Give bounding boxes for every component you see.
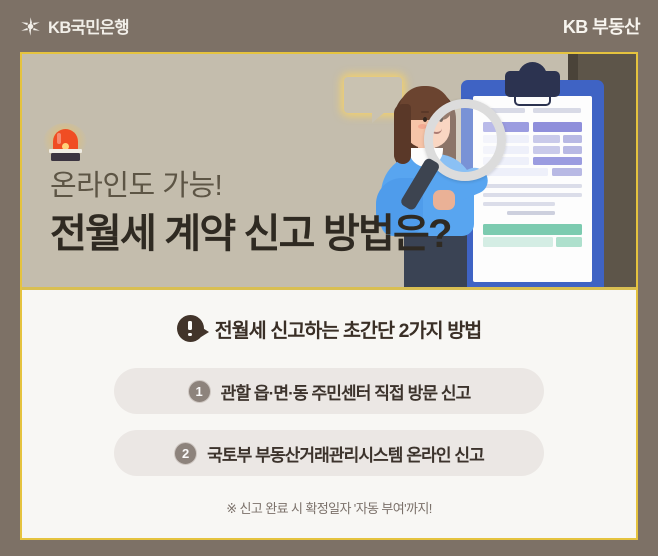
top-brand-bar: KB국민은행 KB 부동산 bbox=[0, 0, 658, 52]
alert-title-row: 전월세 신고하는 초간단 2가지 방법 bbox=[22, 314, 636, 343]
kb-real-estate-label[interactable]: KB 부동산 bbox=[563, 13, 640, 39]
hero-subheadline: 온라인도 가능! bbox=[50, 172, 451, 201]
exclamation-badge-icon bbox=[177, 315, 204, 342]
exclamation-badge-tail bbox=[201, 327, 209, 337]
siren-alert-icon bbox=[42, 123, 88, 163]
kb-star-icon bbox=[20, 16, 41, 37]
clipboard-clip bbox=[505, 71, 560, 97]
magnifying-glass-icon bbox=[424, 99, 506, 181]
method-label-2: 국토부 부동산거래관리시스템 온라인 신고 bbox=[207, 441, 484, 466]
character-hand bbox=[433, 190, 455, 210]
infographic-card: 온라인도 가능! 전월세 계약 신고 방법은? 전월세 신고하는 초간단 2가지… bbox=[20, 52, 638, 540]
kb-kookmin-bank-logo[interactable]: KB국민은행 bbox=[20, 14, 129, 38]
method-number-2: 2 bbox=[174, 442, 197, 465]
clipboard-clip-hook bbox=[514, 95, 551, 106]
alert-title: 전월세 신고하는 초간단 2가지 방법 bbox=[215, 314, 482, 343]
content-section: 전월세 신고하는 초간단 2가지 방법 1 관할 읍·면·동 주민센터 직접 방… bbox=[22, 290, 636, 539]
kb-bank-label: KB국민은행 bbox=[48, 14, 129, 38]
method-item-1[interactable]: 1 관할 읍·면·동 주민센터 직접 방문 신고 bbox=[114, 368, 544, 414]
footnote: ※ 신고 완료 시 확정일자 '자동 부여'까지! bbox=[22, 498, 636, 517]
character-hair-side bbox=[394, 104, 411, 164]
siren-base bbox=[51, 153, 80, 161]
hero-headline: 전월세 계약 신고 방법은? bbox=[50, 214, 451, 254]
method-item-2[interactable]: 2 국토부 부동산거래관리시스템 온라인 신고 bbox=[114, 430, 544, 476]
method-label-1: 관할 읍·면·동 주민센터 직접 방문 신고 bbox=[221, 379, 471, 404]
hero-section: 온라인도 가능! 전월세 계약 신고 방법은? bbox=[22, 54, 636, 290]
hero-headline-block: 온라인도 가능! 전월세 계약 신고 방법은? bbox=[50, 172, 451, 254]
method-number-1: 1 bbox=[188, 380, 211, 403]
